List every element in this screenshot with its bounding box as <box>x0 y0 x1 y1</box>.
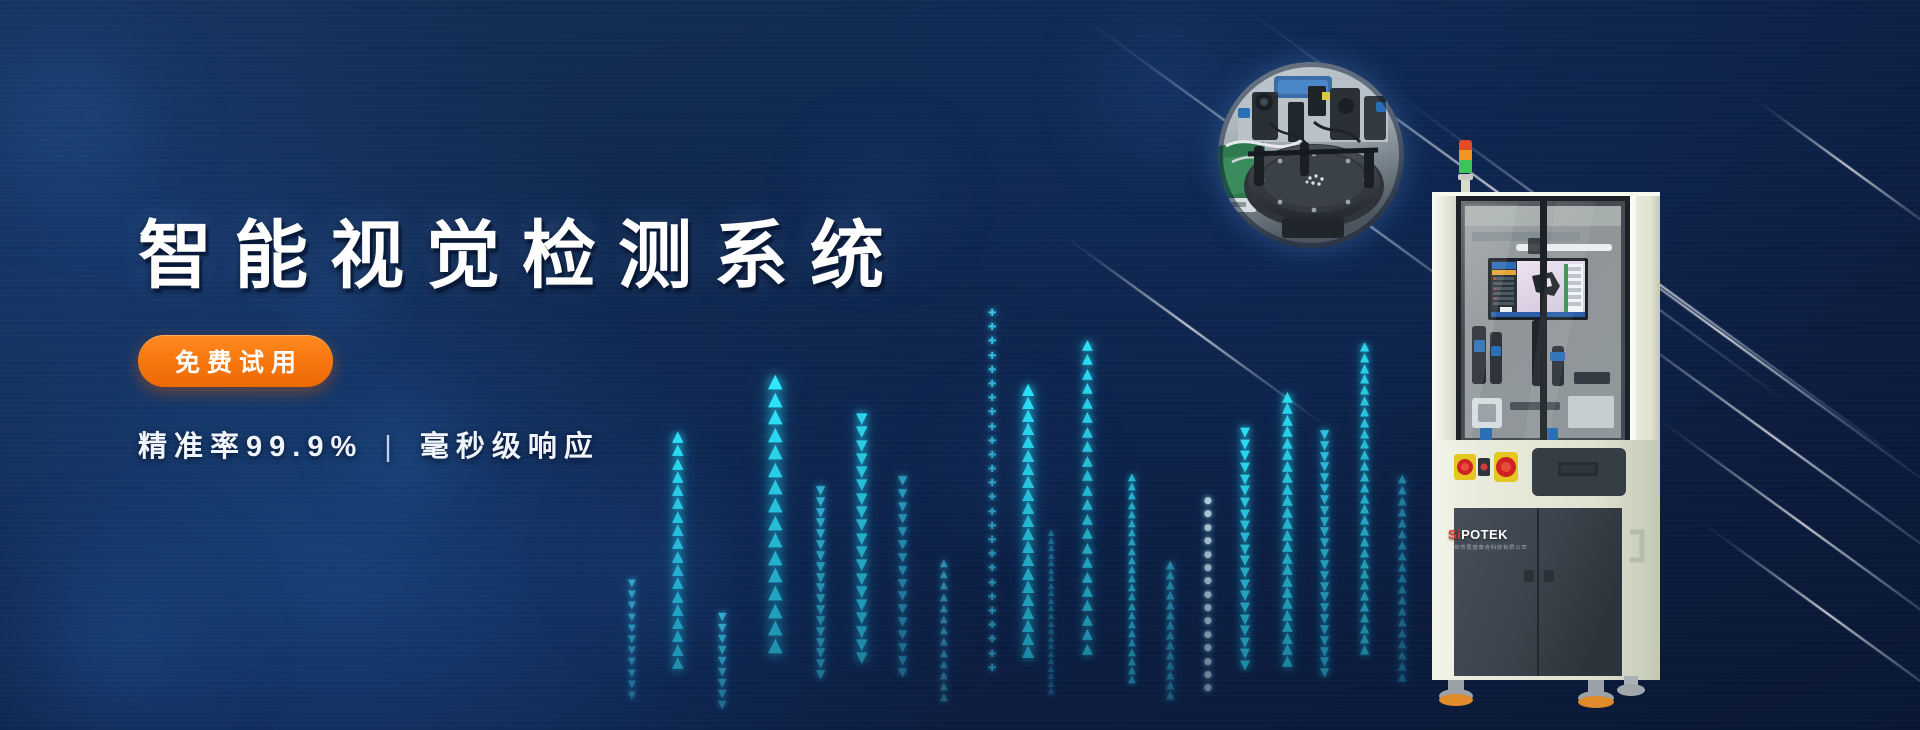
arrow-glyph: ▲ <box>1282 495 1293 506</box>
arrow-glyph: ▼ <box>1320 527 1329 537</box>
arrow-glyph: ▲ <box>768 638 783 654</box>
arrow-glyph: ● <box>1204 511 1212 518</box>
arrow-glyph: ▲ <box>1128 529 1136 537</box>
arrow-glyph: ▲ <box>1282 484 1293 495</box>
arrow-glyph: ▲ <box>1360 504 1369 514</box>
arrow-glyph: ▲ <box>1082 441 1093 452</box>
arrow-glyph: ▼ <box>1320 614 1329 624</box>
arrow-glyph: ✚ <box>988 622 996 630</box>
arrow-glyph: ▲ <box>672 523 684 535</box>
arrow-glyph: ▲ <box>672 616 684 628</box>
arrow-glyph: ▲ <box>1398 661 1406 670</box>
arrow-glyph: ▲ <box>1048 658 1054 665</box>
arrow-glyph: ▲ <box>1022 539 1034 552</box>
arrow-glyph: ▲ <box>940 683 948 691</box>
arrow-glyph: ▼ <box>628 670 636 678</box>
arrow-column: ▲▲▲▲▲▲▲▲▲▲▲▲▲▲▲▲▲▲▲▲▲▲ <box>1048 530 1054 730</box>
arrow-glyph: ▼ <box>628 636 636 644</box>
arrow-glyph: ▲ <box>1128 639 1136 647</box>
arrow-glyph: ▲ <box>1360 439 1369 449</box>
arrow-glyph: ▲ <box>1022 421 1034 434</box>
arrow-glyph: ▼ <box>1320 538 1329 548</box>
hero-banner: ▲▲▲▲▲▲▲▲▲▲▲▲▲▲▲▲▲▲▼▼▼▼▼▼▼▼▼▲▲▲▲▲▲▲▲▲▲▲▲▲… <box>0 0 1920 730</box>
arrow-glyph: ▲ <box>1360 461 1369 471</box>
arrow-glyph: ▲ <box>1282 656 1293 667</box>
arrow-glyph: ▲ <box>1360 483 1369 493</box>
arrow-glyph: ▲ <box>1082 543 1093 554</box>
arrow-glyph: ✚ <box>988 580 996 588</box>
arrow-glyph: ▼ <box>898 617 907 627</box>
machine-brand-subtitle: 深圳市思普泰克科技有限公司 <box>1448 543 1527 551</box>
arrow-glyph: ✚ <box>988 353 996 361</box>
arrow-glyph: ▲ <box>1398 584 1406 593</box>
arrow-glyph: ▼ <box>816 573 825 583</box>
arrow-glyph: ▼ <box>1240 533 1250 544</box>
arrow-column: ▼▼▼▼▼▼▼▼▼▼▼▼▼▼▼▼ <box>898 476 907 730</box>
arrow-glyph: ▲ <box>940 672 948 680</box>
arrow-glyph: ✚ <box>988 381 996 389</box>
arrow-glyph: ▲ <box>1398 507 1406 516</box>
arrow-glyph: ▲ <box>1048 538 1054 545</box>
arrow-glyph: ▲ <box>1360 515 1369 525</box>
arrow-glyph: ✚ <box>988 466 996 474</box>
arrow-glyph: ▼ <box>1320 549 1329 559</box>
arrow-glyph: ▼ <box>718 678 726 687</box>
arrow-glyph: ▲ <box>768 479 783 495</box>
arrow-glyph: ▲ <box>768 515 783 531</box>
arrow-glyph: ● <box>1204 672 1212 679</box>
arrow-glyph: ▼ <box>1240 521 1250 532</box>
arrow-glyph: ▼ <box>816 627 825 637</box>
glow-blob <box>0 25 165 215</box>
arrow-glyph: ▼ <box>1240 615 1250 626</box>
arrow-glyph: ▲ <box>1082 514 1093 525</box>
arrow-glyph: ● <box>1204 525 1212 532</box>
arrow-glyph: ▲ <box>1398 474 1406 483</box>
arrow-glyph: ▼ <box>1240 649 1250 660</box>
arrow-glyph: ▼ <box>1240 626 1250 637</box>
arrow-glyph: ▲ <box>768 567 783 583</box>
arrow-glyph: ▼ <box>1320 657 1329 667</box>
arrow-glyph: ▼ <box>1240 463 1250 474</box>
arrow-glyph: ▲ <box>1360 385 1369 395</box>
arrow-glyph: ▲ <box>1282 415 1293 426</box>
arrow-glyph: ▲ <box>1022 487 1034 500</box>
arrow-glyph: ▼ <box>816 648 825 658</box>
response-stat: 毫秒级响应 <box>420 431 600 463</box>
arrow-glyph: ▼ <box>816 529 825 539</box>
arrow-glyph: ▲ <box>672 603 684 615</box>
arrow-glyph: ● <box>1204 552 1212 559</box>
arrow-glyph: ▼ <box>898 643 907 653</box>
page-title: 智能视觉检测系统 <box>138 196 906 303</box>
arrow-glyph: ▲ <box>1022 644 1034 657</box>
arrow-glyph: ▲ <box>1128 612 1136 620</box>
arrow-glyph: ▼ <box>856 465 868 477</box>
arrow-glyph: ▼ <box>1320 484 1329 494</box>
arrow-glyph: ▲ <box>1166 690 1174 699</box>
brand-rest: POTEK <box>1461 527 1508 542</box>
arrow-glyph: ▲ <box>1082 354 1093 365</box>
arrow-glyph: ▲ <box>1360 645 1369 655</box>
arrow-glyph: ▲ <box>1360 342 1369 352</box>
arrow-glyph: ▼ <box>816 518 825 528</box>
arrow-glyph: ▼ <box>1320 647 1329 657</box>
arrow-glyph: ● <box>1204 592 1212 599</box>
arrow-glyph: ▲ <box>1128 483 1136 491</box>
arrow-glyph: ▼ <box>898 668 907 678</box>
arrow-glyph: ✚ <box>988 608 996 616</box>
arrow-glyph: ▲ <box>1282 541 1293 552</box>
arrow-glyph: ▼ <box>816 659 825 669</box>
arrow-glyph: ▼ <box>1240 661 1250 672</box>
arrow-glyph: ▼ <box>628 681 636 689</box>
arrow-glyph: ▲ <box>1048 530 1054 537</box>
arrow-glyph: ▲ <box>672 656 684 668</box>
arrow-column: ▲▲▲▲▲▲▲▲▲▲▲▲▲▲▲▲▲▲▲▲▲▲ <box>1082 340 1093 730</box>
arrow-glyph: ▲ <box>1166 650 1174 659</box>
arrow-column: ▼▼▼▼▼▼▼▼▼ <box>718 612 726 730</box>
arrow-glyph: ▼ <box>856 492 868 504</box>
arrow-glyph: ▲ <box>1360 353 1369 363</box>
arrow-glyph: ● <box>1204 659 1212 666</box>
arrow-glyph: ▼ <box>898 553 907 563</box>
arrow-glyph: ▲ <box>1360 494 1369 504</box>
arrow-glyph: ▲ <box>1048 590 1054 597</box>
arrow-column: ▲▲▲▲▲▲▲▲▲▲▲▲▲ <box>940 560 948 730</box>
arrow-glyph: ▼ <box>898 630 907 640</box>
arrow-glyph: ▼ <box>816 508 825 518</box>
arrow-glyph: ▼ <box>1320 430 1329 440</box>
arrow-glyph: ▲ <box>1022 448 1034 461</box>
arrow-glyph: ▲ <box>1398 650 1406 659</box>
arrow-glyph: ▼ <box>1320 462 1329 472</box>
arrow-glyph: ▼ <box>816 551 825 561</box>
arrow-glyph: ▲ <box>1082 383 1093 394</box>
arrow-glyph: ▲ <box>1128 575 1136 583</box>
arrow-glyph: ▲ <box>1360 374 1369 384</box>
arrow-glyph: ✚ <box>988 480 996 488</box>
arrow-glyph: ▲ <box>1398 518 1406 527</box>
arrow-glyph: ▲ <box>1166 660 1174 669</box>
arrow-glyph: ● <box>1204 498 1212 505</box>
arrow-glyph: ▼ <box>856 545 868 557</box>
arrow-glyph: ▲ <box>1282 449 1293 460</box>
arrow-glyph: ▲ <box>1360 364 1369 374</box>
subline-divider: | <box>378 431 405 463</box>
arrow-glyph: ▲ <box>1048 621 1054 628</box>
arrow-glyph: ▲ <box>1022 500 1034 513</box>
arrow-glyph: ▲ <box>1166 680 1174 689</box>
arrow-glyph: ▼ <box>1320 495 1329 505</box>
arrow-glyph: ▼ <box>1240 603 1250 614</box>
arrow-glyph: ▼ <box>816 540 825 550</box>
light-streak <box>1751 96 1920 245</box>
brand-initial: Si <box>1448 527 1461 542</box>
arrow-glyph: ▼ <box>816 497 825 507</box>
arrow-glyph: ▲ <box>1048 681 1054 688</box>
arrow-glyph: ▲ <box>1082 528 1093 539</box>
arrow-glyph: ▲ <box>672 590 684 602</box>
arrow-glyph: ▲ <box>1128 474 1136 482</box>
machine-brand-logo: SiPOTEK <box>1448 527 1508 542</box>
accuracy-stat: 精准率99.9% <box>138 431 363 463</box>
arrow-glyph: ▲ <box>768 550 783 566</box>
arrow-glyph: ▲ <box>1398 485 1406 494</box>
arrow-glyph: ▲ <box>1082 470 1093 481</box>
arrow-glyph: ▲ <box>1166 580 1174 589</box>
arrow-glyph: ▲ <box>1360 396 1369 406</box>
arrow-glyph: ▲ <box>1128 593 1136 601</box>
arrow-glyph: ▼ <box>718 623 726 632</box>
arrow-glyph: ▼ <box>718 656 726 665</box>
arrow-glyph: ▲ <box>1022 461 1034 474</box>
arrow-glyph: ▼ <box>1320 452 1329 462</box>
arrow-glyph: ▲ <box>672 550 684 562</box>
arrow-glyph: ✚ <box>988 665 996 673</box>
arrow-glyph: ▲ <box>1082 485 1093 496</box>
arrow-glyph: ▲ <box>1048 545 1054 552</box>
arrow-glyph: ▲ <box>1398 529 1406 538</box>
arrow-glyph: ▲ <box>1022 382 1034 395</box>
glow-blob <box>940 400 1080 540</box>
arrow-glyph: ● <box>1204 645 1212 652</box>
arrow-glyph: ▲ <box>1048 628 1054 635</box>
arrow-glyph: ▲ <box>1398 551 1406 560</box>
free-trial-button[interactable]: 免费试用 <box>138 335 333 387</box>
arrow-glyph: ▲ <box>1282 598 1293 609</box>
arrow-glyph: ▲ <box>1166 620 1174 629</box>
light-streak <box>1699 520 1920 716</box>
arrow-glyph: ▲ <box>672 483 684 495</box>
arrow-column: ▲▲▲▲▲▲▲▲▲▲▲▲▲▲▲▲▲▲▲▲▲▲▲▲ <box>1282 392 1293 730</box>
glow-blob <box>1088 20 1232 164</box>
arrow-glyph: ✚ <box>988 367 996 375</box>
arrow-glyph: ▼ <box>1240 556 1250 567</box>
arrow-glyph: ▲ <box>1128 658 1136 666</box>
arrow-glyph: ▲ <box>940 638 948 646</box>
arrow-glyph: ▲ <box>1282 426 1293 437</box>
arrow-glyph: ▲ <box>1282 392 1293 403</box>
arrow-glyph: ▲ <box>1398 573 1406 582</box>
arrow-glyph: ✚ <box>988 537 996 545</box>
arrow-glyph: ▲ <box>1282 461 1293 472</box>
arrow-glyph: ▲ <box>1360 559 1369 569</box>
arrow-glyph: ▼ <box>1240 545 1250 556</box>
arrow-glyph: ▼ <box>1320 517 1329 527</box>
arrow-glyph: ▼ <box>1240 486 1250 497</box>
arrow-glyph: ✚ <box>988 565 996 573</box>
arrow-glyph: ▼ <box>816 562 825 572</box>
arrow-glyph: ▲ <box>1048 568 1054 575</box>
arrow-column: ▲▲▲▲▲▲▲▲▲▲▲▲▲▲▲▲▲▲▲▲▲▲▲▲▲▲▲▲▲ <box>1360 342 1369 730</box>
arrow-glyph: ▲ <box>1360 569 1369 579</box>
arrow-glyph: ▲ <box>1048 583 1054 590</box>
arrow-glyph: ▲ <box>940 582 948 590</box>
arrow-glyph: ▲ <box>1166 610 1174 619</box>
arrow-glyph: ▼ <box>718 612 726 621</box>
arrow-glyph: ▼ <box>856 611 868 623</box>
arrow-glyph: ▼ <box>1320 506 1329 516</box>
arrow-glyph: ▲ <box>768 585 783 601</box>
arrow-glyph: ▲ <box>1082 572 1093 583</box>
arrow-glyph: ▼ <box>898 489 907 499</box>
arrow-glyph: ▲ <box>1022 631 1034 644</box>
arrow-glyph: ▲ <box>1398 540 1406 549</box>
arrow-glyph: ✚ <box>988 324 996 332</box>
arrow-glyph: ▲ <box>1082 369 1093 380</box>
arrow-glyph: ✚ <box>988 310 996 318</box>
arrow-glyph: ▼ <box>816 594 825 604</box>
arrow-glyph: ▲ <box>1360 634 1369 644</box>
arrow-glyph: ▼ <box>628 591 636 599</box>
arrow-glyph: ▼ <box>1320 560 1329 570</box>
inspection-machine-image <box>1428 140 1678 710</box>
arrow-glyph: ▲ <box>1128 502 1136 510</box>
arrow-glyph: ▼ <box>898 502 907 512</box>
arrow-glyph: ▲ <box>1022 605 1034 618</box>
arrow-glyph: ▲ <box>1398 628 1406 637</box>
arrow-glyph: ▲ <box>1166 560 1174 569</box>
arrow-glyph: ● <box>1204 538 1212 545</box>
arrow-glyph: ▲ <box>1282 633 1293 644</box>
arrow-glyph: ▼ <box>856 651 868 663</box>
arrow-column: ▼▼▼▼▼▼▼▼▼▼▼ <box>628 580 636 730</box>
arrow-glyph: ▼ <box>856 585 868 597</box>
arrow-glyph: ▲ <box>1360 537 1369 547</box>
arrow-column: ▲▲▲▲▲▲▲▲▲▲▲▲▲▲▲▲▲▲▲ <box>1398 474 1406 730</box>
arrow-glyph: ▼ <box>816 638 825 648</box>
arrow-glyph: ▼ <box>628 692 636 700</box>
arrow-glyph: ▲ <box>768 497 783 513</box>
arrow-column: ▲▲▲▲▲▲▲▲▲▲▲▲▲▲ <box>1166 560 1174 730</box>
arrow-glyph: ▲ <box>1022 395 1034 408</box>
arrow-glyph: ▼ <box>1320 603 1329 613</box>
arrow-glyph: ● <box>1204 632 1212 639</box>
arrow-glyph: ▲ <box>1128 667 1136 675</box>
arrow-glyph: ▼ <box>628 602 636 610</box>
arrow-glyph: ▼ <box>1320 571 1329 581</box>
arrow-glyph: ▲ <box>1128 538 1136 546</box>
arrow-glyph: ● <box>1204 565 1212 572</box>
arrow-glyph: ▼ <box>718 667 726 676</box>
arrow-glyph: ✚ <box>988 338 996 346</box>
arrow-glyph: ▲ <box>1128 548 1136 556</box>
arrow-glyph: ▲ <box>1360 526 1369 536</box>
arrow-glyph: ▼ <box>856 572 868 584</box>
arrow-glyph: ▼ <box>898 579 907 589</box>
arrow-glyph: ▲ <box>1082 499 1093 510</box>
arrow-glyph: ▼ <box>1240 638 1250 649</box>
arrow-glyph: ▼ <box>898 476 907 486</box>
arrow-glyph: ✚ <box>988 651 996 659</box>
arrow-column: ▼▼▼▼▼▼▼▼▼▼▼▼▼▼▼▼▼▼ <box>816 486 825 730</box>
arrow-glyph: ▲ <box>1360 472 1369 482</box>
arrow-glyph: ▼ <box>1240 428 1250 439</box>
arrow-glyph: ▲ <box>672 496 684 508</box>
arrow-glyph: ▲ <box>1048 651 1054 658</box>
arrow-glyph: ▲ <box>1282 530 1293 541</box>
arrow-glyph: ▲ <box>1282 587 1293 598</box>
arrow-glyph: ▲ <box>1082 456 1093 467</box>
arrow-glyph: ▲ <box>672 643 684 655</box>
arrow-glyph: ▲ <box>672 536 684 548</box>
arrow-glyph: ▲ <box>1128 630 1136 638</box>
arrow-glyph: ▲ <box>1166 640 1174 649</box>
arrow-glyph: ▼ <box>898 514 907 524</box>
arrow-glyph: ▲ <box>1048 560 1054 567</box>
arrow-glyph: ▼ <box>1240 475 1250 486</box>
arrow-glyph: ▲ <box>1128 511 1136 519</box>
arrow-glyph: ▼ <box>1240 451 1250 462</box>
arrow-glyph: ▼ <box>816 616 825 626</box>
arrow-glyph: ▲ <box>1360 613 1369 623</box>
arrow-glyph: ▲ <box>1022 566 1034 579</box>
arrow-glyph: ▼ <box>628 614 636 622</box>
arrow-glyph: ▲ <box>672 563 684 575</box>
arrow-glyph: ▼ <box>898 540 907 550</box>
arrow-glyph: ▲ <box>940 560 948 568</box>
arrow-glyph: ▲ <box>1048 636 1054 643</box>
arrow-glyph: ▼ <box>1240 568 1250 579</box>
machine-detail-photo <box>1218 62 1404 248</box>
arrow-glyph: ▲ <box>1048 553 1054 560</box>
arrow-glyph: ▲ <box>940 594 948 602</box>
arrow-column: ▼▼▼▼▼▼▼▼▼▼▼▼▼▼▼▼▼▼▼▼▼▼▼ <box>1320 430 1329 730</box>
arrow-glyph: ● <box>1204 578 1212 585</box>
arrow-glyph: ✚ <box>988 395 996 403</box>
arrow-glyph: ▲ <box>1398 617 1406 626</box>
arrow-glyph: ▲ <box>1048 605 1054 612</box>
arrow-glyph: ▲ <box>1022 434 1034 447</box>
arrow-glyph: ▼ <box>816 583 825 593</box>
arrow-glyph: ▲ <box>1128 621 1136 629</box>
arrow-glyph: ▲ <box>1048 673 1054 680</box>
arrow-glyph: ▼ <box>816 670 825 680</box>
arrow-glyph: ▲ <box>1048 666 1054 673</box>
arrow-glyph: ▲ <box>768 620 783 636</box>
arrow-glyph: ▲ <box>1166 630 1174 639</box>
arrow-glyph: ▲ <box>1082 586 1093 597</box>
arrow-glyph: ▼ <box>856 505 868 517</box>
arrow-glyph: ✚ <box>988 424 996 432</box>
arrow-glyph: ▼ <box>1320 473 1329 483</box>
arrow-glyph: ▲ <box>1022 592 1034 605</box>
arrow-glyph: ▲ <box>1360 450 1369 460</box>
arrow-glyph: ▲ <box>1282 576 1293 587</box>
arrow-glyph: ▼ <box>718 689 726 698</box>
arrow-glyph: ● <box>1204 685 1212 692</box>
light-streak <box>1649 412 1920 649</box>
arrow-glyph: ▲ <box>768 532 783 548</box>
arrow-glyph: ▲ <box>1282 507 1293 518</box>
arrow-glyph: ▲ <box>1128 676 1136 684</box>
arrow-glyph: ▲ <box>1082 615 1093 626</box>
arrow-glyph: ▲ <box>1282 438 1293 449</box>
arrow-column: ▲▲▲▲▲▲▲▲▲▲▲▲▲▲▲▲▲▲▲▲▲▲▲ <box>1128 474 1136 730</box>
hero-text-block: 智能视觉检测系统 免费试用 精准率99.9% | 毫秒级响应 <box>138 196 906 465</box>
arrow-glyph: ▲ <box>1166 600 1174 609</box>
arrow-column: ✚✚✚✚✚✚✚✚✚✚✚✚✚✚✚✚✚✚✚✚✚✚✚✚✚✚ <box>988 310 996 730</box>
arrow-glyph: ✚ <box>988 438 996 446</box>
arrow-glyph: ▲ <box>1398 639 1406 648</box>
arrow-glyph: ✚ <box>988 409 996 417</box>
arrow-glyph: ▲ <box>1166 590 1174 599</box>
arrow-glyph: ▲ <box>1166 570 1174 579</box>
arrow-glyph: ▲ <box>1398 595 1406 604</box>
arrow-glyph: ▲ <box>1128 520 1136 528</box>
arrow-glyph: ▲ <box>1282 403 1293 414</box>
